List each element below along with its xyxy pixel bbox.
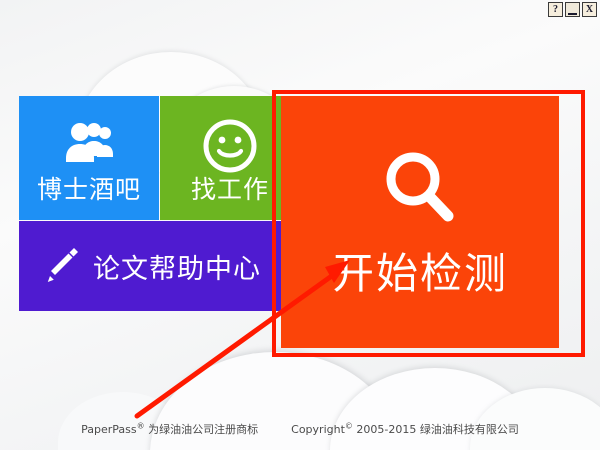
pencil-icon [41,244,81,289]
copyright-mark-icon: © [345,421,353,430]
magnifier-icon [281,146,559,230]
minimize-button[interactable] [565,2,580,17]
tile-find-job[interactable]: 找工作 [160,96,300,220]
tile-find-job-label: 找工作 [160,170,300,206]
tile-doctor-bar-label: 博士酒吧 [19,170,159,206]
tile-thesis-help-center-label: 论文帮助中心 [93,247,261,286]
paperpass-app-window: ? X 博士酒吧 [0,0,600,450]
window-controls: ? X [548,2,597,17]
footer-legal: PaperPass® 为绿油油公司注册商标 Copyright© 2005-20… [0,421,600,437]
help-button[interactable]: ? [548,2,563,17]
registered-mark-icon: ® [137,421,145,430]
cloud-decoration-bottom-c [470,388,600,450]
footer-trademark-brand: PaperPass [81,423,137,436]
cloud-decoration-bottom-b [330,368,540,450]
people-icon [19,118,159,166]
tile-start-detection-label: 开始检测 [281,240,559,301]
footer-trademark-text: 为绿油油公司注册商标 [145,423,259,436]
tile-doctor-bar[interactable]: 博士酒吧 [19,96,159,220]
tile-grid: 博士酒吧 找工作 [19,96,559,348]
footer-copyright-word: Copyright [291,423,345,436]
footer-copyright-text: 2005-2015 绿油油科技有限公司 [353,423,519,436]
smiley-icon [160,118,300,174]
tile-start-detection[interactable]: 开始检测 [281,96,559,348]
tile-thesis-help-center[interactable]: 论文帮助中心 [19,221,300,311]
close-button[interactable]: X [582,2,597,17]
